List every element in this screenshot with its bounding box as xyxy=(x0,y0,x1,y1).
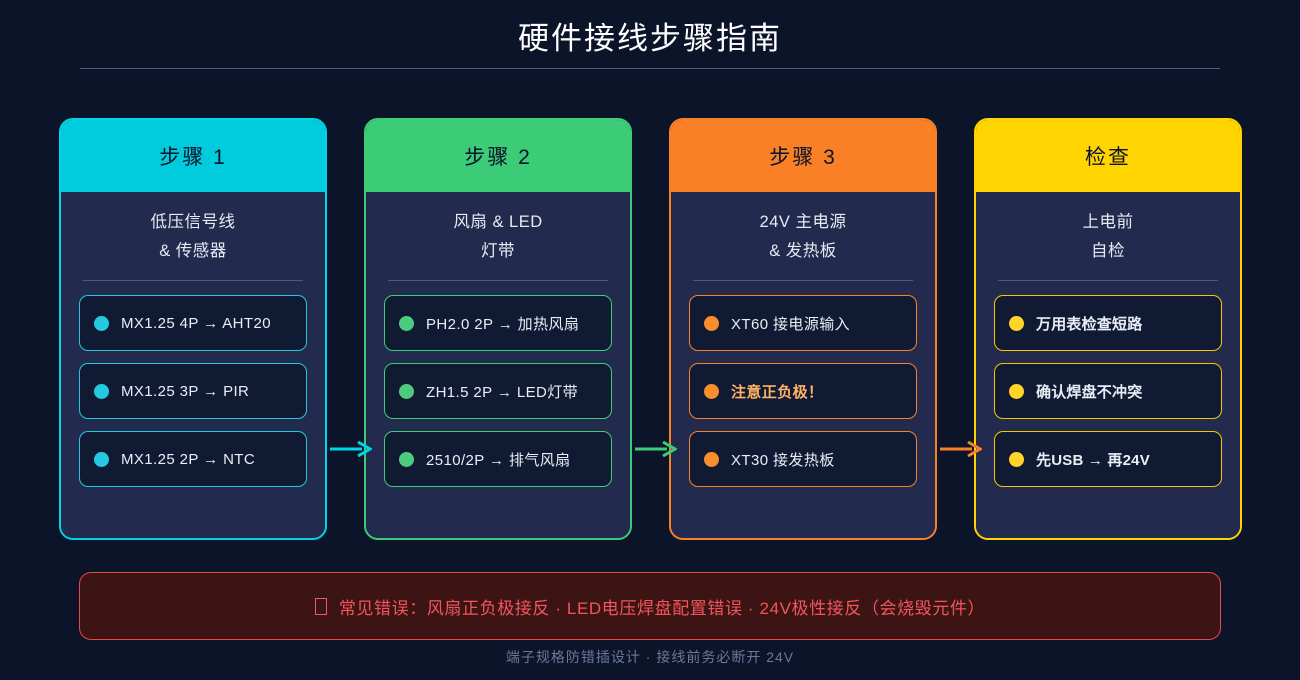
list-item-label: PH2.0 2P → 加热风扇 xyxy=(426,313,579,334)
step-card-subtitle-line1: 低压信号线 xyxy=(79,208,307,237)
step-card-subtitle: 上电前 自检 xyxy=(994,208,1222,272)
step-card-header: 步骤 3 xyxy=(671,120,935,192)
step-card-subtitle-line1: 24V 主电源 xyxy=(689,208,917,237)
step-card-subtitle-line1: 风扇 & LED xyxy=(384,208,612,237)
bullet-dot-icon xyxy=(94,452,109,467)
step-card-check[interactable]: 检查 上电前 自检 万用表检查短路 确认焊盘不冲突 先USB → 再24V xyxy=(974,118,1242,540)
step-card-title: 步骤 1 xyxy=(159,141,227,171)
list-item[interactable]: ZH1.5 2P → LED灯带 xyxy=(384,363,612,419)
bullet-dot-icon xyxy=(704,384,719,399)
list-item[interactable]: XT30 接发热板 xyxy=(689,431,917,487)
warning-icon xyxy=(315,598,327,615)
list-item[interactable]: 2510/2P → 排气风扇 xyxy=(384,431,612,487)
list-item[interactable]: MX1.25 4P → AHT20 xyxy=(79,295,307,351)
list-item-label: 确认焊盘不冲突 xyxy=(1036,381,1142,402)
step-card-divider xyxy=(388,280,608,281)
step-card-subtitle-line2: 自检 xyxy=(994,237,1222,266)
bullet-dot-icon xyxy=(704,316,719,331)
bullet-dot-icon xyxy=(704,452,719,467)
list-item-label: MX1.25 3P → PIR xyxy=(121,383,249,400)
step-card-step-1[interactable]: 步骤 1 低压信号线 & 传感器 MX1.25 4P → AHT20 MX1.2… xyxy=(59,118,327,540)
footer-note: 端子规格防错插设计 · 接线前务必断开 24V xyxy=(0,647,1300,667)
step-card-header: 步骤 2 xyxy=(366,120,630,192)
warning-text: 常见错误：风扇正负极接反 · LED电压焊盘配置错误 · 24V极性接反（会烧毁… xyxy=(339,594,985,619)
bullet-dot-icon xyxy=(1009,316,1024,331)
step-card-body: 24V 主电源 & 发热板 XT60 接电源输入 注意正负极！ XT30 接发热… xyxy=(671,192,935,538)
bullet-dot-icon xyxy=(1009,452,1024,467)
list-item[interactable]: PH2.0 2P → 加热风扇 xyxy=(384,295,612,351)
list-item-label: ZH1.5 2P → LED灯带 xyxy=(426,381,578,402)
list-item[interactable]: 注意正负极！ xyxy=(689,363,917,419)
bullet-dot-icon xyxy=(399,384,414,399)
list-item[interactable]: 先USB → 再24V xyxy=(994,431,1222,487)
list-item-label: MX1.25 4P → AHT20 xyxy=(121,315,271,332)
title-divider xyxy=(80,68,1220,69)
step-card-step-2[interactable]: 步骤 2 风扇 & LED 灯带 PH2.0 2P → 加热风扇 ZH1.5 2… xyxy=(364,118,632,540)
step-card-divider xyxy=(83,280,303,281)
arrow-step3-to-check-icon xyxy=(940,441,982,457)
step-card-body: 低压信号线 & 传感器 MX1.25 4P → AHT20 MX1.25 3P … xyxy=(61,192,325,538)
step-card-title: 步骤 2 xyxy=(464,141,532,171)
common-errors-warning-banner: 常见错误：风扇正负极接反 · LED电压焊盘配置错误 · 24V极性接反（会烧毁… xyxy=(79,572,1221,640)
bullet-dot-icon xyxy=(399,452,414,467)
step-card-subtitle: 低压信号线 & 传感器 xyxy=(79,208,307,272)
step-card-title: 检查 xyxy=(1085,141,1131,171)
step-card-body: 风扇 & LED 灯带 PH2.0 2P → 加热风扇 ZH1.5 2P → L… xyxy=(366,192,630,538)
page-title-container: 硬件接线步骤指南 xyxy=(0,18,1300,60)
list-item[interactable]: XT60 接电源输入 xyxy=(689,295,917,351)
list-item-label: MX1.25 2P → NTC xyxy=(121,451,255,468)
list-item[interactable]: MX1.25 2P → NTC xyxy=(79,431,307,487)
step-card-subtitle-line2: & 发热板 xyxy=(689,237,917,266)
step-card-header: 检查 xyxy=(976,120,1240,192)
arrow-step1-to-step2-icon xyxy=(330,441,372,457)
list-item-label: 先USB → 再24V xyxy=(1036,449,1150,470)
step-card-step-3[interactable]: 步骤 3 24V 主电源 & 发热板 XT60 接电源输入 注意正负极！ XT3… xyxy=(669,118,937,540)
step-card-body: 上电前 自检 万用表检查短路 确认焊盘不冲突 先USB → 再24V xyxy=(976,192,1240,538)
step-card-subtitle-line2: 灯带 xyxy=(384,237,612,266)
step-card-subtitle: 风扇 & LED 灯带 xyxy=(384,208,612,272)
list-item-label: 注意正负极！ xyxy=(731,381,823,402)
list-item-label: 2510/2P → 排气风扇 xyxy=(426,449,571,470)
list-item[interactable]: 确认焊盘不冲突 xyxy=(994,363,1222,419)
step-card-header: 步骤 1 xyxy=(61,120,325,192)
step-card-title: 步骤 3 xyxy=(769,141,837,171)
bullet-dot-icon xyxy=(1009,384,1024,399)
step-card-subtitle-line2: & 传感器 xyxy=(79,237,307,266)
bullet-dot-icon xyxy=(399,316,414,331)
page-title: 硬件接线步骤指南 xyxy=(0,18,1300,60)
steps-flow: 步骤 1 低压信号线 & 传感器 MX1.25 4P → AHT20 MX1.2… xyxy=(0,118,1300,540)
list-item[interactable]: MX1.25 3P → PIR xyxy=(79,363,307,419)
list-item-label: 万用表检查短路 xyxy=(1036,313,1142,334)
list-item-label: XT60 接电源输入 xyxy=(731,313,850,334)
step-card-subtitle: 24V 主电源 & 发热板 xyxy=(689,208,917,272)
bullet-dot-icon xyxy=(94,384,109,399)
list-item[interactable]: 万用表检查短路 xyxy=(994,295,1222,351)
step-card-subtitle-line1: 上电前 xyxy=(994,208,1222,237)
step-card-divider xyxy=(693,280,913,281)
step-card-divider xyxy=(998,280,1218,281)
bullet-dot-icon xyxy=(94,316,109,331)
list-item-label: XT30 接发热板 xyxy=(731,449,835,470)
arrow-step2-to-step3-icon xyxy=(635,441,677,457)
